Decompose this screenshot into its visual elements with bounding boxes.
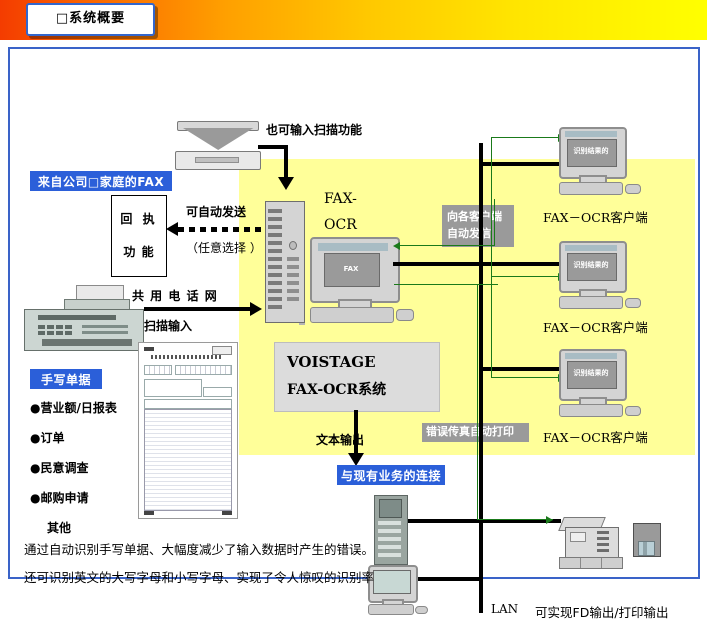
client-3-caption: FAX－OCR客户端 [543, 427, 648, 446]
list-item: ●营业额/日报表 [30, 399, 140, 416]
client-screen-text: 识别结果的 [567, 260, 615, 270]
green-printer-arrow [546, 516, 553, 524]
text-output-line [354, 410, 358, 456]
receipt-function-box: 回 执 功 能 [111, 195, 167, 277]
auto-send-note-label: （任意选择 ） [186, 239, 262, 256]
handwritten-form-image [138, 342, 238, 519]
green-line-client-3 [491, 377, 559, 378]
scanner-connector-v [284, 145, 288, 179]
floppy-disk-icon [633, 523, 661, 557]
public-phone-network-label: 共 用 电 话 网 [132, 287, 218, 304]
list-item: ●订单 [30, 429, 140, 446]
receipt-label-line1: 回 执 [112, 210, 166, 227]
lan-backbone-vertical [479, 143, 483, 613]
fax-ocr-title-line2: OCR [324, 217, 357, 233]
list-item: 其他 [47, 519, 140, 536]
client-2-caption: FAX－OCR客户端 [543, 317, 648, 336]
callout-line2: 自动发信 [447, 227, 491, 240]
green-line-trunk-2 [491, 276, 492, 378]
page-title: □系统概要 [28, 5, 153, 32]
receipt-label-line2: 功 能 [112, 243, 166, 260]
description-line-1: 通过自动识别手写单据、大幅度减少了输入数据时产生的错误。 [24, 539, 424, 558]
scanner-icon [173, 121, 261, 171]
auto-send-label: 可自动发送 [186, 203, 246, 220]
green-return-arrow [393, 242, 400, 250]
green-line-trunk-1 [491, 137, 492, 277]
scanner-arrow-down [278, 177, 294, 190]
green-return-vertical [494, 199, 495, 245]
phone-network-arrow [250, 302, 262, 316]
callout-auto-send-to-clients: 向各客户端 自动发信 [442, 205, 514, 247]
client-pc-1-icon: 识别结果的 [559, 127, 643, 199]
fax-source-banner: 来自公司□家庭的FAX [30, 171, 172, 191]
system-name-line2: FAX-OCR系统 [287, 379, 439, 399]
form-type-list: ●营业额/日报表 ●订单 ●民意调查 ●邮购申请 其他 [30, 399, 140, 549]
callout-error-fax-autoprint: 错误传真自动打印 [422, 423, 529, 442]
fax-ocr-title-line1: FAX- [324, 191, 357, 207]
green-printer-line-h2 [477, 519, 553, 520]
fax-ocr-server-pc-icon: FAX [310, 237, 414, 325]
client-screen-text: 识别结果的 [567, 146, 615, 156]
pc-screen-text: FAX [324, 265, 378, 273]
system-name-box: VOISTAGE FAX-OCR系统 [274, 342, 440, 412]
handwritten-docs-banner: 手写单据 [30, 369, 102, 389]
server-tower-icon [265, 201, 305, 323]
lan-branch-client-2 [393, 262, 567, 266]
page-title-tab[interactable]: □系统概要 [26, 3, 155, 36]
fd-print-output-label: 可实现FD输出/打印输出 [535, 602, 669, 621]
scan-input-option-label: 也可输入扫描功能 [266, 121, 362, 138]
green-line-client-2 [491, 276, 559, 277]
lan-label: LAN [491, 602, 518, 616]
phone-network-line [144, 307, 252, 311]
description-block: 通过自动识别手写单据、大幅度减少了输入数据时产生的错误。 还可识别英文的大写字母… [24, 539, 424, 595]
lan-branch-client-3 [479, 367, 567, 371]
auto-send-arrow-left [166, 222, 178, 236]
green-printer-line-v [477, 284, 478, 520]
green-printer-line-h1 [394, 284, 498, 285]
client-1-caption: FAX－OCR客户端 [543, 207, 648, 226]
system-name-line1: VOISTAGE [287, 353, 439, 371]
list-item: ●民意调查 [30, 459, 140, 476]
fax-machine-icon [24, 285, 144, 351]
green-line-client-1 [491, 137, 559, 138]
green-return-line [400, 245, 495, 246]
list-item: ●邮购申请 [30, 489, 140, 506]
auto-send-dotted-line [178, 227, 276, 232]
diagram-frame: 也可输入扫描功能 来自公司□家庭的FAX 回 执 功 能 可自动发送 （任意选择… [8, 47, 700, 579]
printer-icon [555, 517, 625, 569]
client-pc-3-icon: 识别结果的 [559, 349, 643, 421]
scan-input-label: 扫描输入 [144, 317, 192, 334]
lan-branch-client-1 [479, 162, 567, 166]
client-pc-2-icon: 识别结果的 [559, 241, 643, 313]
client-screen-text: 识别结果的 [567, 368, 615, 378]
connect-existing-banner: 与现有业务的连接 [337, 465, 445, 485]
description-line-2: 还可识别英文的大写字母和小写字母、实现了令人惊叹的识别率 [24, 567, 424, 586]
